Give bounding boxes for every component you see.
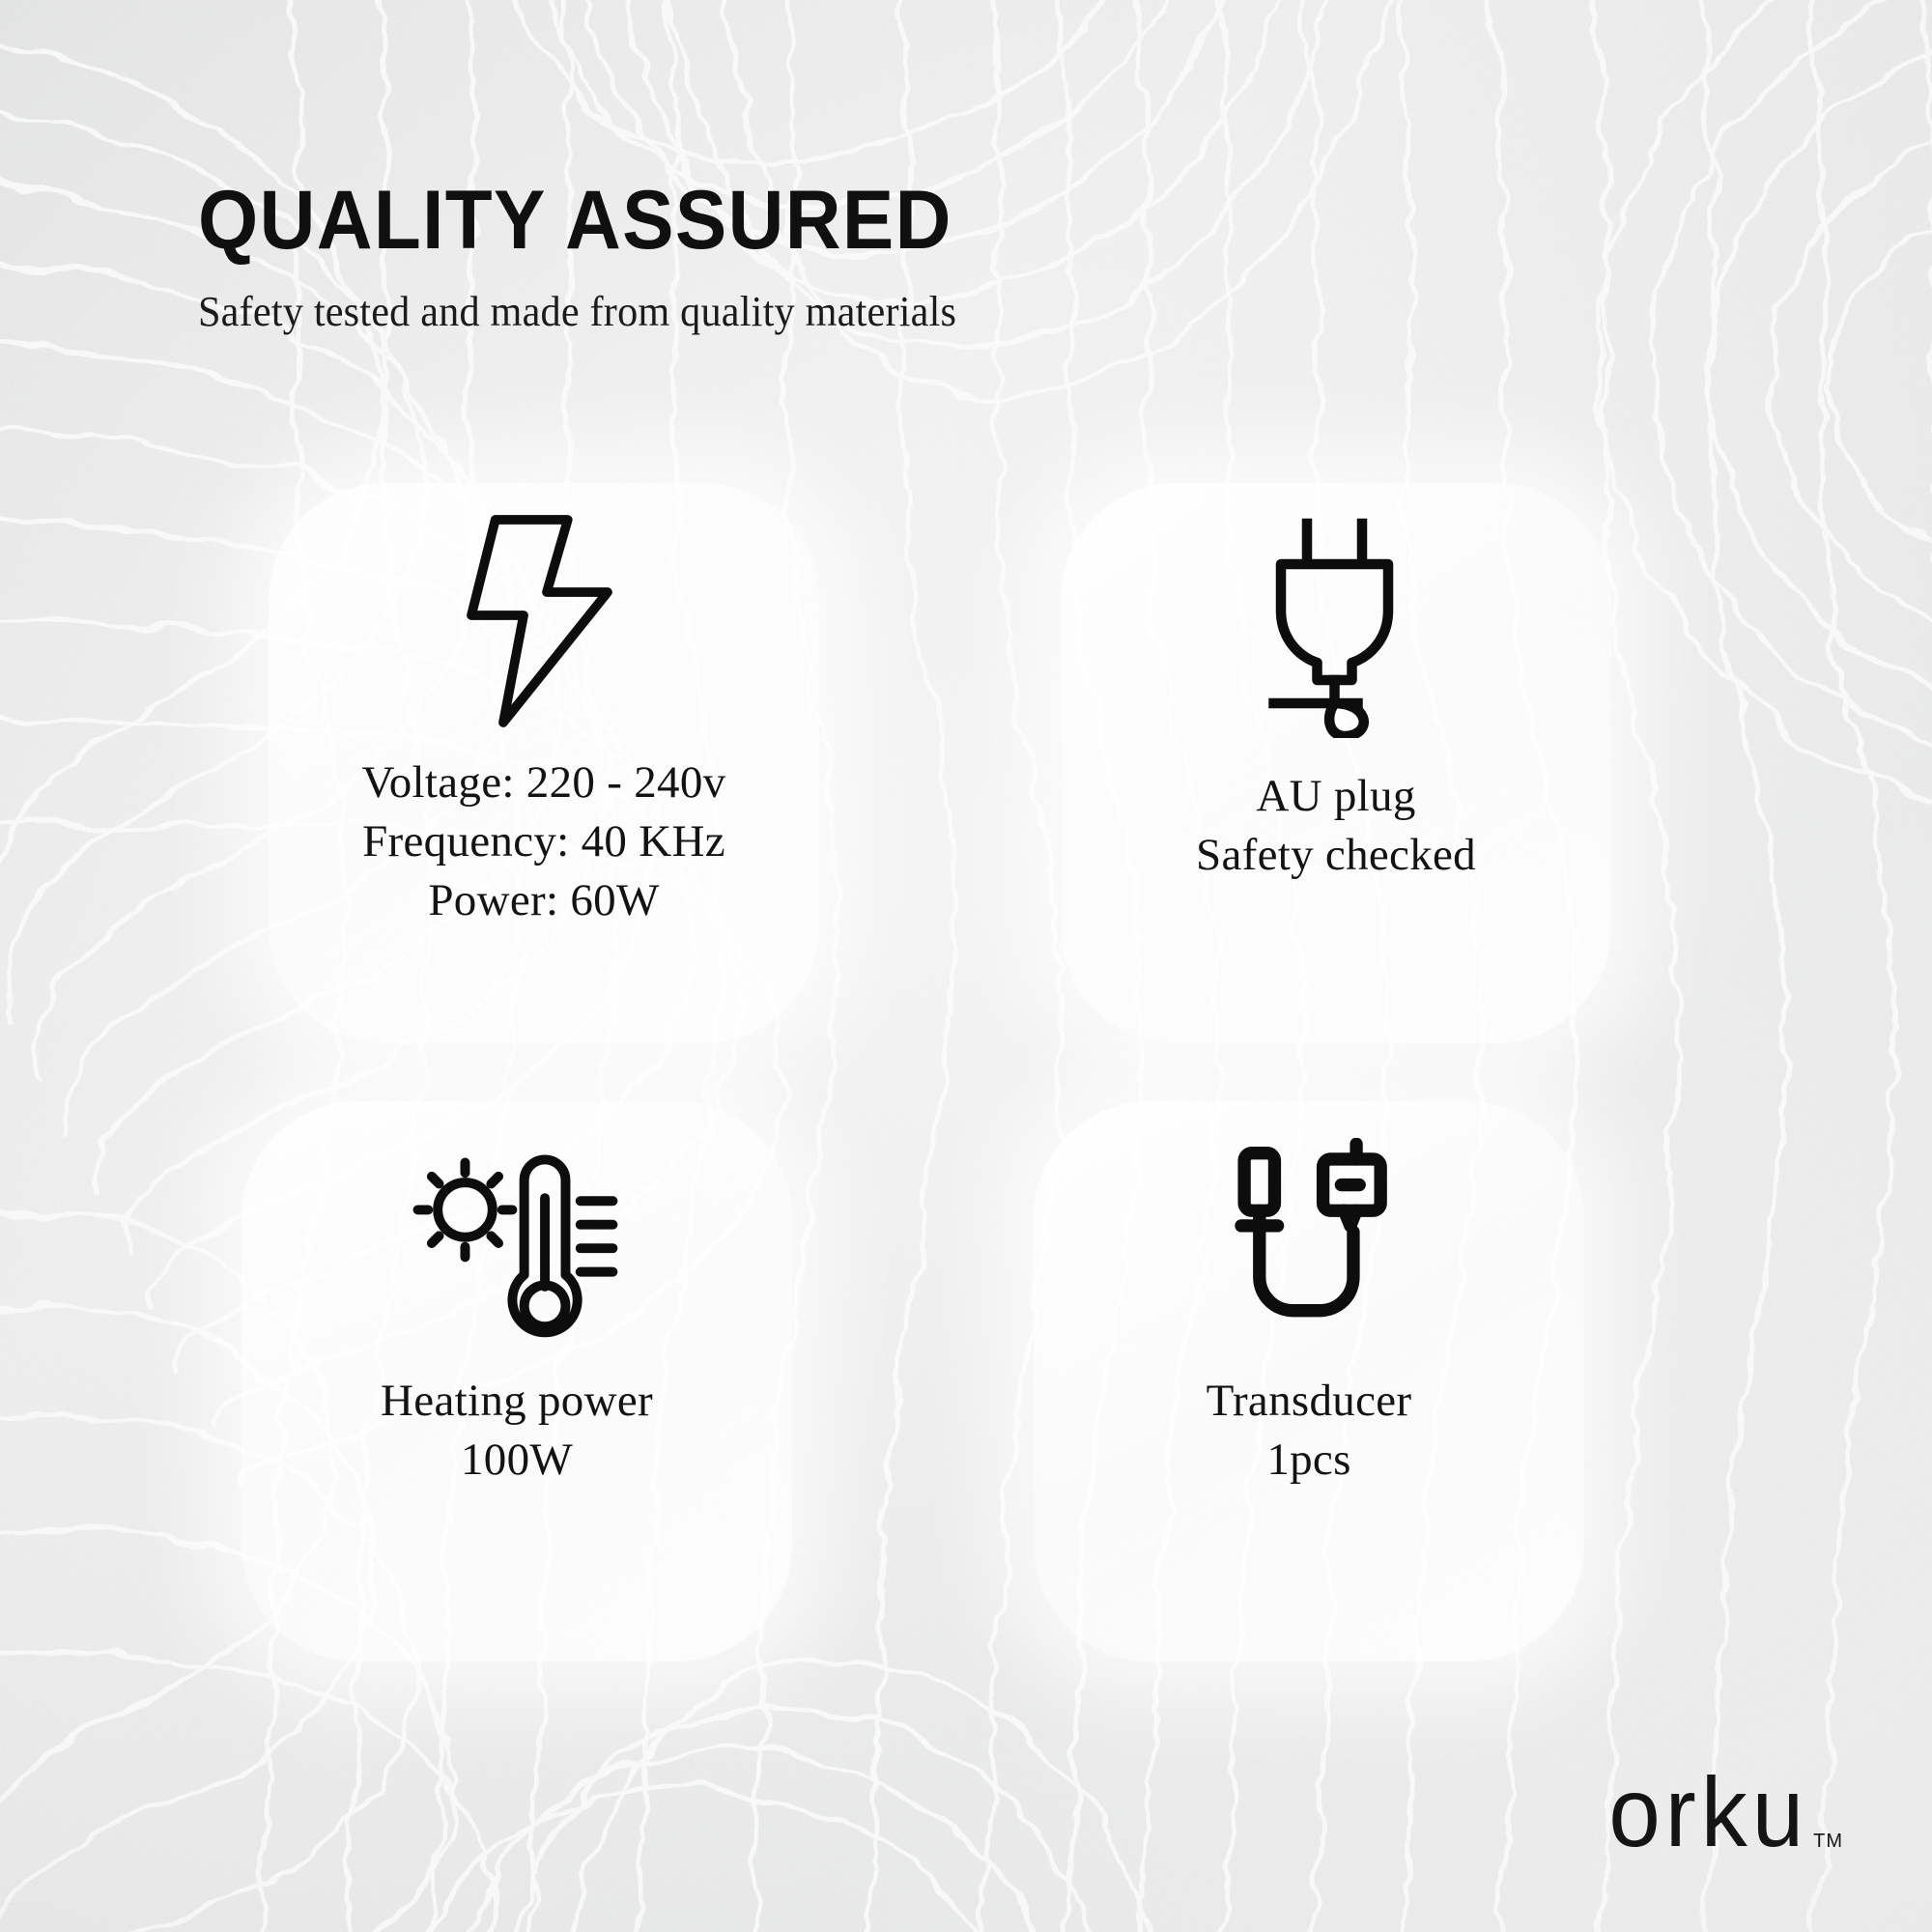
card-line: Power: 60W bbox=[269, 871, 819, 930]
brand-logo-wordmark: orku bbox=[1608, 1764, 1808, 1862]
feature-card-heating-power: Heating power 100W bbox=[241, 1101, 792, 1662]
page-title: QUALITY ASSURED bbox=[198, 179, 1546, 262]
feature-card-voltage-text: Voltage: 220 - 240v Frequency: 40 KHz Po… bbox=[269, 753, 819, 930]
card-line: Safety checked bbox=[1061, 826, 1611, 885]
thermometer-sun-icon bbox=[241, 1101, 792, 1378]
trademark-icon: TM bbox=[1813, 1831, 1843, 1853]
power-plug-icon bbox=[1061, 483, 1611, 773]
transducer-cable-icon bbox=[1034, 1101, 1584, 1378]
feature-card-transducer-text: Transducer 1pcs bbox=[1034, 1372, 1584, 1490]
infographic-canvas: QUALITY ASSURED Safety tested and made f… bbox=[0, 0, 1932, 1932]
feature-card-au-plug: AU plug Safety checked bbox=[1061, 483, 1611, 1043]
card-line: Transducer bbox=[1034, 1372, 1584, 1431]
feature-card-au-plug-text: AU plug Safety checked bbox=[1061, 767, 1611, 885]
page-subtitle: Safety tested and made from quality mate… bbox=[198, 287, 1589, 336]
card-line: AU plug bbox=[1061, 767, 1611, 826]
feature-card-grid: Voltage: 220 - 240v Frequency: 40 KHz Po… bbox=[251, 483, 1681, 1739]
card-line: 1pcs bbox=[1034, 1431, 1584, 1490]
card-line: Heating power bbox=[241, 1372, 792, 1431]
feature-card-heating-power-text: Heating power 100W bbox=[241, 1372, 792, 1490]
lightning-bolt-icon bbox=[269, 483, 819, 759]
feature-card-transducer: Transducer 1pcs bbox=[1034, 1101, 1584, 1662]
card-line: Voltage: 220 - 240v bbox=[269, 753, 819, 812]
feature-card-voltage: Voltage: 220 - 240v Frequency: 40 KHz Po… bbox=[269, 483, 819, 1043]
header: QUALITY ASSURED Safety tested and made f… bbox=[198, 179, 1647, 336]
card-line: Frequency: 40 KHz bbox=[269, 812, 819, 871]
brand-logo: orku TM bbox=[1608, 1770, 1843, 1862]
card-line: 100W bbox=[241, 1431, 792, 1490]
